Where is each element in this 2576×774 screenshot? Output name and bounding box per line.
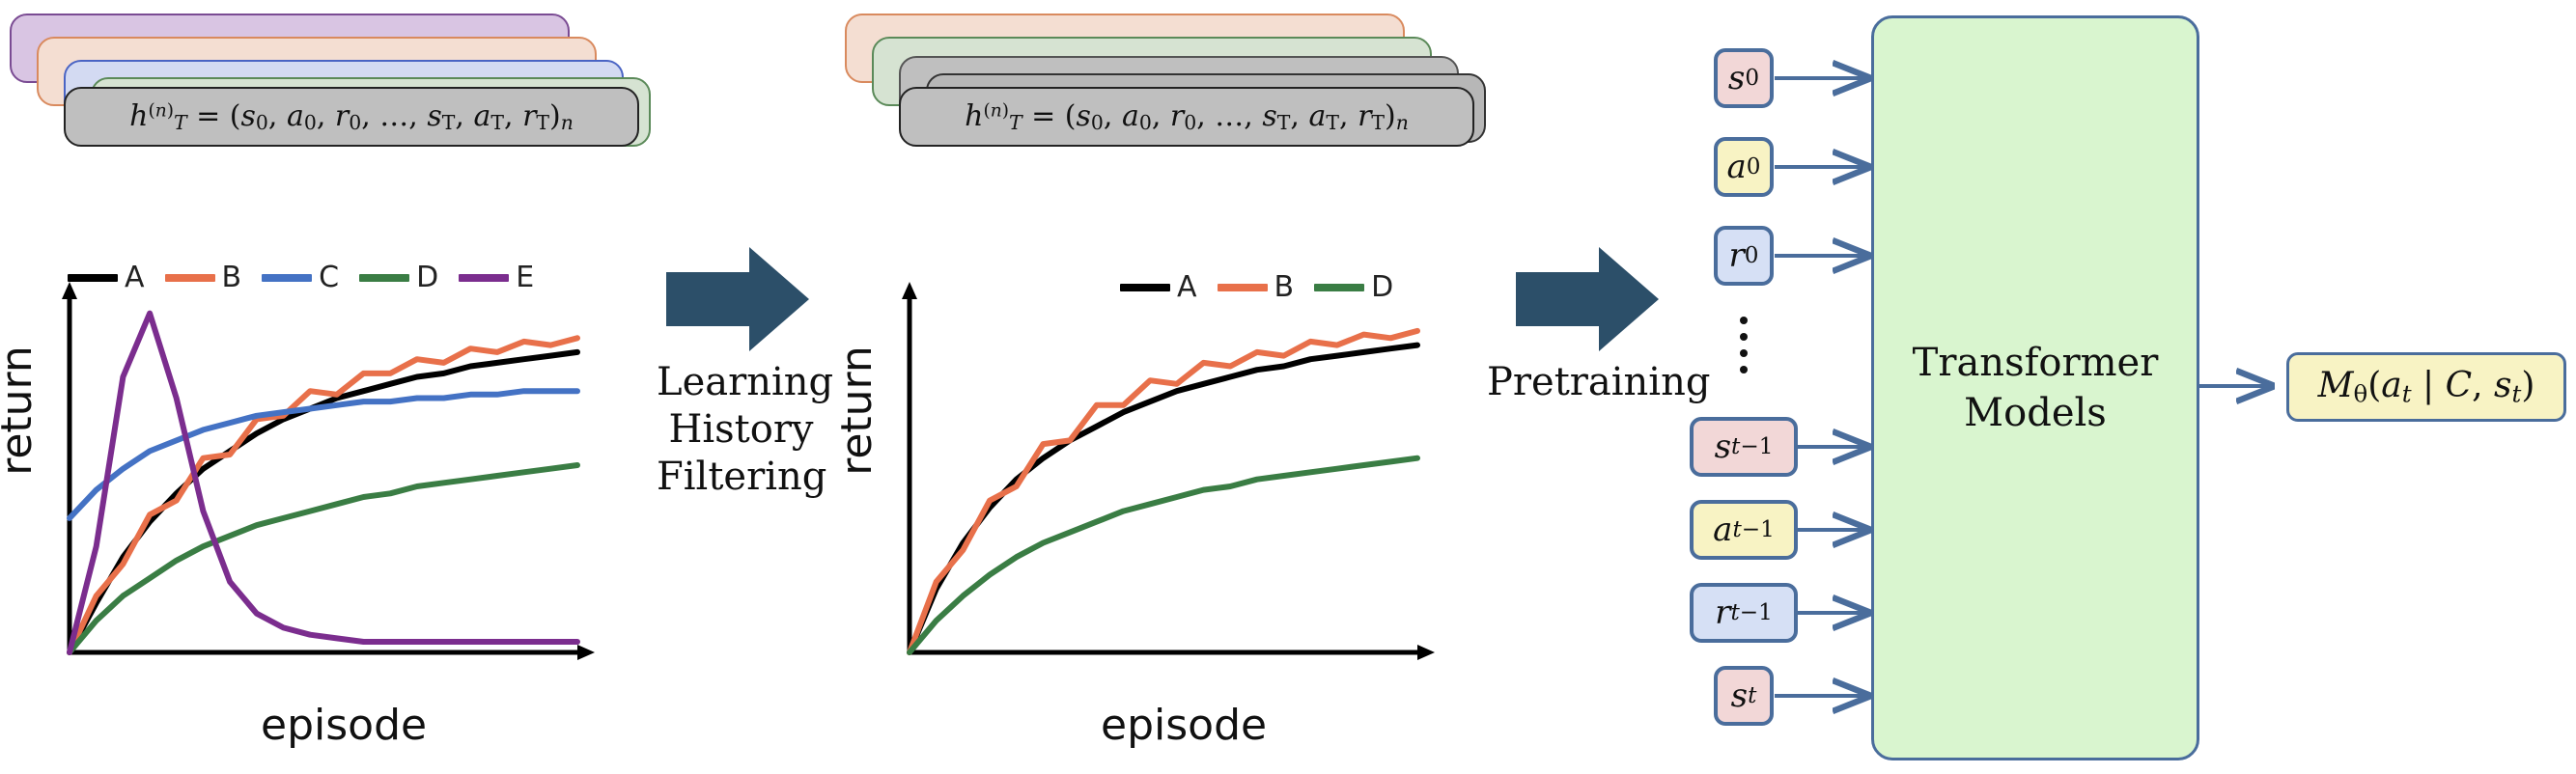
stage-pretraining-arrow bbox=[1516, 241, 1661, 357]
token-st: st bbox=[1714, 666, 1774, 726]
ellipsis-vertical bbox=[1740, 317, 1748, 373]
chart-right-plot bbox=[859, 280, 1458, 695]
stage-filtering-line2: History bbox=[657, 406, 826, 454]
series-B bbox=[910, 331, 1417, 652]
stage-filtering-line1: Learning bbox=[657, 359, 826, 406]
history-formula-right: h(n)T = (s0, a0, r0, …, sT, aT, rT)n bbox=[901, 99, 1472, 134]
stage-filtering-line3: Filtering bbox=[657, 454, 826, 501]
series-D bbox=[70, 465, 577, 652]
transformer-models-box: Transformer Models bbox=[1871, 15, 2199, 760]
stage-filtering-label: Learning History Filtering bbox=[657, 359, 826, 500]
token-r0: r0 bbox=[1714, 226, 1774, 286]
series-D bbox=[910, 458, 1417, 652]
chart-left-xlabel: episode bbox=[261, 701, 427, 750]
stage-pretraining-label: Pretraining bbox=[1487, 359, 1694, 406]
history-stack-left: h(n)T = (s0, a0, r0, …, sT, aT, rT)n bbox=[0, 14, 637, 154]
series-A bbox=[70, 352, 577, 652]
token-s0: s0 bbox=[1714, 48, 1774, 108]
chart-right-ylabel: return bbox=[832, 346, 882, 476]
stage-pretraining-line1: Pretraining bbox=[1487, 359, 1694, 406]
series-B bbox=[70, 338, 577, 652]
transformer-line-1: Transformer bbox=[1913, 338, 2159, 388]
output-formula: Mθ(at | C, st) bbox=[2318, 366, 2535, 407]
transformer-line-2: Models bbox=[1913, 388, 2159, 438]
history-formula-left: h(n)T = (s0, a0, r0, …, sT, aT, rT)n bbox=[66, 99, 637, 134]
history-card-rn: h(n)T = (s0, a0, r0, …, sT, aT, rT)n bbox=[899, 87, 1474, 147]
history-index-1 bbox=[50, 33, 56, 58]
dot-2 bbox=[1740, 333, 1748, 341]
history-card-n: h(n)T = (s0, a0, r0, …, sT, aT, rT)n bbox=[64, 87, 639, 147]
chart-right-xlabel: episode bbox=[1101, 701, 1267, 750]
chart-left-plot bbox=[19, 280, 618, 695]
dot-1 bbox=[1740, 317, 1748, 324]
chart-after-filtering: A B D return episode bbox=[859, 164, 1458, 762]
stage-filtering-arrow bbox=[666, 241, 811, 357]
dot-3 bbox=[1740, 349, 1748, 357]
chart-before-filtering: A B C D E return episode bbox=[19, 164, 618, 762]
output-arrow bbox=[2199, 367, 2286, 405]
series-C bbox=[70, 391, 577, 518]
history-stack-right: h(n)T = (s0, a0, r0, …, sT, aT, rT)n bbox=[835, 14, 1472, 154]
output-box: Mθ(at | C, st) bbox=[2286, 352, 2566, 422]
dot-4 bbox=[1740, 366, 1748, 373]
token-a0: a0 bbox=[1714, 137, 1774, 197]
chart-left-ylabel: return bbox=[0, 346, 42, 476]
